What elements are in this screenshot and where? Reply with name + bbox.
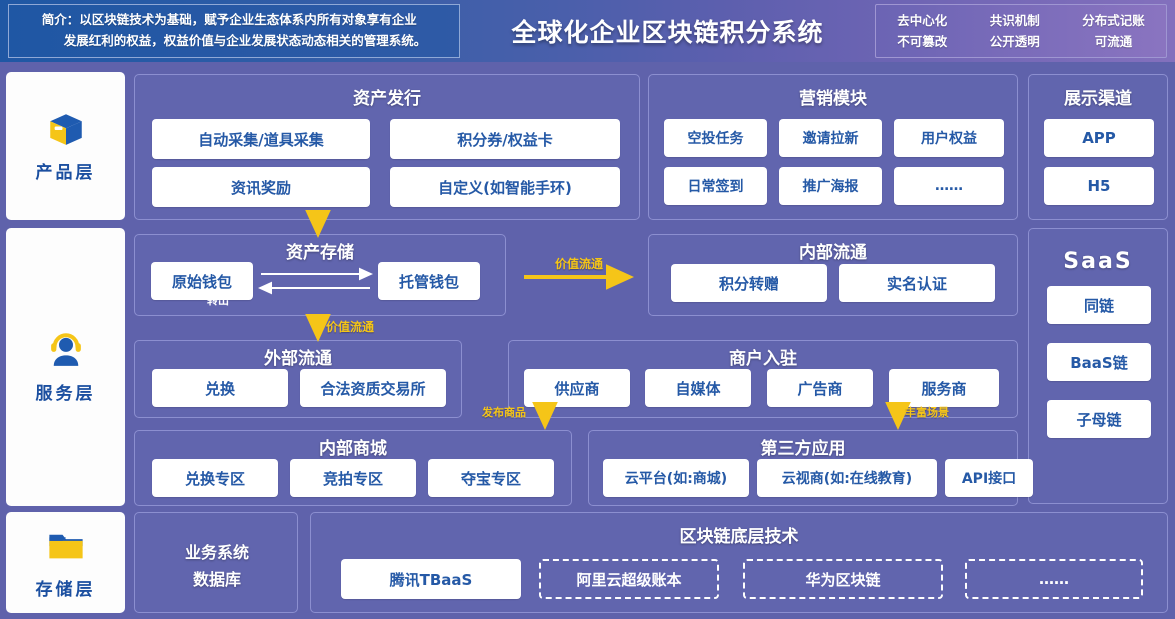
chip-auto-collect[interactable]: 自动采集/道具采集 [152,119,370,159]
feature-top: 共识机制 [990,10,1040,31]
panel-title: 外部流通 [135,344,461,369]
panel-title: 展示渠道 [1029,84,1167,109]
intro-line-2: 发展红利的权益，权益价值与企业发展状态动态相关的管理系统。 [42,31,427,52]
chip-points-transfer[interactable]: 积分转赠 [671,264,827,302]
chip-marketing-more[interactable]: …… [894,167,1004,205]
chip-custom[interactable]: 自定义(如智能手环) [390,167,620,207]
feature-tag: 去中心化 不可篡改 [897,10,947,53]
chip-tencent-tbaas[interactable]: 腾讯TBaaS [341,559,521,599]
feature-bottom: 公开透明 [990,31,1040,52]
feature-tag: 共识机制 公开透明 [990,10,1040,53]
panel-external-circulation: 外部流通 兑换 合法资质交易所 [134,340,462,418]
chip-self-media[interactable]: 自媒体 [645,369,751,407]
label-publish-goods: 发布商品 [482,404,526,420]
panel-display-channel: 展示渠道 APP H5 [1028,74,1168,220]
panel-title: 内部商城 [135,434,571,459]
chip-h5[interactable]: H5 [1044,167,1154,205]
label-transfer-in: 转入 [207,263,229,279]
feature-tag: 分布式记账 可流通 [1082,10,1145,53]
intro-box: 简介：以区块链技术为基础，赋予企业生态体系内所有对象享有企业 发展红利的权益，权… [8,4,460,58]
feature-bottom: 可流通 [1082,31,1145,52]
chip-same-chain[interactable]: 同链 [1047,286,1151,324]
box-icon [44,109,88,151]
layer-card-storage[interactable]: 存储层 [6,512,125,613]
chip-origin-wallet[interactable]: 原始钱包 [151,262,253,300]
chip-daily-signin[interactable]: 日常签到 [664,167,767,205]
chip-legal-exchange[interactable]: 合法资质交易所 [300,369,446,407]
chip-user-rights[interactable]: 用户权益 [894,119,1004,157]
layer-label: 产品层 [36,158,96,183]
label-transfer-out: 转出 [207,292,229,308]
headset-user-icon [44,330,88,372]
panel-title: SaaS [1029,249,1167,274]
chip-baas-chain[interactable]: BaaS链 [1047,343,1151,381]
chip-news-reward[interactable]: 资讯奖励 [152,167,370,207]
chip-airdrop-task[interactable]: 空投任务 [664,119,767,157]
business-system-line1: 业务系统 [135,539,299,563]
panel-title: 营销模块 [649,84,1017,109]
chip-api[interactable]: API接口 [945,459,1033,497]
layer-label: 服务层 [36,379,96,404]
panel-business-system: 业务系统 数据库 [134,512,298,613]
chip-points-coupon[interactable]: 积分券/权益卡 [390,119,620,159]
label-value-flow-down: 价值流通 [326,318,374,335]
chip-treasure-zone[interactable]: 夺宝专区 [428,459,554,497]
layer-card-product[interactable]: 产品层 [6,72,125,220]
chip-promo-poster[interactable]: 推广海报 [779,167,882,205]
panel-marketing: 营销模块 空投任务 邀请拉新 用户权益 日常签到 推广海报 …… [648,74,1018,220]
panel-asset-storage: 资产存储 原始钱包 托管钱包 转入 转出 [134,234,506,316]
feature-tags: 去中心化 不可篡改 共识机制 公开透明 分布式记账 可流通 [875,4,1167,58]
chip-huawei-blockchain[interactable]: 华为区块链 [743,559,943,599]
chip-cloud-video[interactable]: 云视商(如:在线教育) [757,459,937,497]
layer-card-service[interactable]: 服务层 [6,228,125,506]
diagram-root: 简介：以区块链技术为基础，赋予企业生态体系内所有对象享有企业 发展红利的权益，权… [0,0,1175,619]
chip-service-provider[interactable]: 服务商 [889,369,999,407]
chip-realname-auth[interactable]: 实名认证 [839,264,995,302]
chip-blockchain-more[interactable]: …… [965,559,1143,599]
chip-parent-child-chain[interactable]: 子母链 [1047,400,1151,438]
panel-title: 区块链底层技术 [311,522,1167,547]
panel-asset-issue: 资产发行 自动采集/道具采集 积分券/权益卡 资讯奖励 自定义(如智能手环) [134,74,640,220]
page-header: 简介：以区块链技术为基础，赋予企业生态体系内所有对象享有企业 发展红利的权益，权… [0,0,1175,62]
business-system-line2: 数据库 [135,566,299,590]
chip-supplier[interactable]: 供应商 [524,369,630,407]
feature-top: 分布式记账 [1082,10,1145,31]
panel-internal-circulation: 内部流通 积分转赠 实名认证 [648,234,1018,316]
chip-cloud-platform[interactable]: 云平台(如:商城) [603,459,749,497]
intro-line-1: 简介：以区块链技术为基础，赋予企业生态体系内所有对象享有企业 [42,12,417,27]
chip-alibaba-ledger[interactable]: 阿里云超级账本 [539,559,719,599]
feature-top: 去中心化 [897,10,947,31]
panel-blockchain-base: 区块链底层技术 腾讯TBaaS 阿里云超级账本 华为区块链 …… [310,512,1168,613]
panel-third-party: 第三方应用 云平台(如:商城) 云视商(如:在线教育) API接口 [588,430,1018,506]
panel-saas: SaaS 同链 BaaS链 子母链 [1028,228,1168,504]
panel-title: 资产发行 [135,84,639,109]
panel-title: 商户入驻 [509,344,1017,369]
chip-app[interactable]: APP [1044,119,1154,157]
panel-title: 资产存储 [135,238,505,263]
chip-exchange[interactable]: 兑换 [152,369,288,407]
chip-advertiser[interactable]: 广告商 [767,369,873,407]
label-rich-scene: 丰富场景 [905,404,949,420]
chip-exchange-zone[interactable]: 兑换专区 [152,459,278,497]
panel-title: 内部流通 [649,238,1017,263]
chip-auction-zone[interactable]: 竞拍专区 [290,459,416,497]
label-value-flow-right: 价值流通 [555,255,603,272]
feature-bottom: 不可篡改 [897,31,947,52]
layer-label: 存储层 [36,575,96,600]
panel-title: 第三方应用 [589,434,1017,459]
page-title: 全球化企业区块链积分系统 [460,13,875,49]
folder-icon [44,526,88,568]
chip-invite-new[interactable]: 邀请拉新 [779,119,882,157]
chip-custody-wallet[interactable]: 托管钱包 [378,262,480,300]
panel-internal-mall: 内部商城 兑换专区 竞拍专区 夺宝专区 [134,430,572,506]
